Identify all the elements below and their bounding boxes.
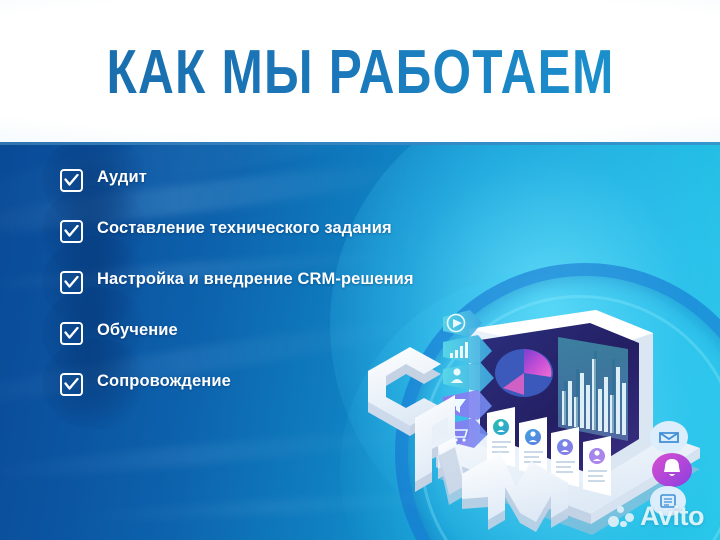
funnel-icon-badge — [443, 390, 492, 420]
checkbox-checked-icon[interactable] — [60, 322, 83, 345]
bell-icon-badge — [652, 453, 692, 487]
bar-chart-icon-badge — [443, 335, 492, 365]
checkbox-checked-icon[interactable] — [60, 373, 83, 396]
cart-icon-badge — [443, 418, 488, 448]
list-item-label: Обучение — [97, 320, 178, 340]
list-item-label: Составление технического задания — [97, 218, 392, 238]
checkbox-checked-icon[interactable] — [60, 271, 83, 294]
list-item-label: Аудит — [97, 167, 147, 187]
left-badge-column — [443, 310, 494, 448]
checkbox-checked-icon[interactable] — [60, 169, 83, 192]
list-item-label: Настройка и внедрение CRM-решения — [97, 269, 414, 289]
mail-icon-badge — [650, 421, 688, 453]
list-item[interactable]: Обучение — [60, 320, 440, 345]
avito-brand-text: Avito — [640, 503, 704, 530]
main-panel: Аудит Составление технического задания — [0, 145, 720, 540]
list-item[interactable]: Настройка и внедрение CRM-решения — [60, 269, 440, 294]
process-checklist: Аудит Составление технического задания — [60, 167, 440, 422]
person-icon-badge — [443, 362, 494, 392]
clock-icon-badge — [443, 310, 482, 337]
header-band: КАК МЫ РАБОТАЕМ — [0, 0, 720, 145]
avito-watermark: Avito — [608, 503, 704, 530]
list-item[interactable]: Составление технического задания — [60, 218, 440, 243]
checkbox-checked-icon[interactable] — [60, 220, 83, 243]
dashboard-user-cards — [487, 407, 611, 496]
list-item[interactable]: Сопровождение — [60, 371, 440, 396]
dashboard-bar-chart — [558, 337, 628, 441]
background-streak — [60, 489, 490, 525]
page-title: КАК МЫ РАБОТАЕМ — [103, 42, 617, 104]
list-item[interactable]: Аудит — [60, 167, 440, 192]
poster-root: КАК МЫ РАБОТАЕМ — [0, 0, 720, 540]
dashboard-pie-chart — [495, 349, 553, 397]
list-item-label: Сопровождение — [97, 371, 231, 391]
avito-dots-logo — [608, 506, 634, 528]
background-ring — [395, 263, 720, 540]
laptop-screen — [466, 310, 653, 496]
background-streak — [0, 425, 430, 486]
